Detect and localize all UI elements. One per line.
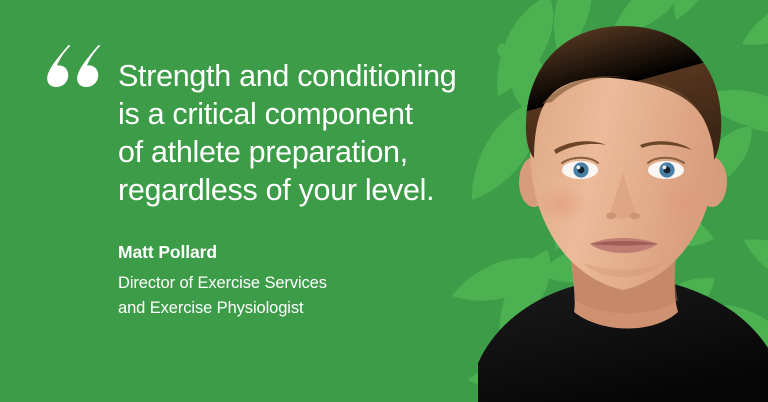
attribution-block: Matt Pollard Director of Exercise Servic… <box>118 240 518 321</box>
author-role-line-2: and Exercise Physiologist <box>118 296 518 321</box>
quote-line-3: of athlete preparation, <box>118 133 518 171</box>
author-name: Matt Pollard <box>118 240 518 264</box>
portrait-photo <box>478 0 768 402</box>
quote-line-4: regardless of your level. <box>118 171 518 209</box>
quote-line-2: is a critical component <box>118 95 518 133</box>
author-role-line-1: Director of Exercise Services <box>118 271 518 296</box>
quote-card: Strength and conditioning is a critical … <box>0 0 768 402</box>
open-quote-icon <box>45 44 105 88</box>
quote-line-1: Strength and conditioning <box>118 57 518 95</box>
quote-text: Strength and conditioning is a critical … <box>118 57 518 209</box>
author-role: Director of Exercise Services and Exerci… <box>118 271 518 321</box>
